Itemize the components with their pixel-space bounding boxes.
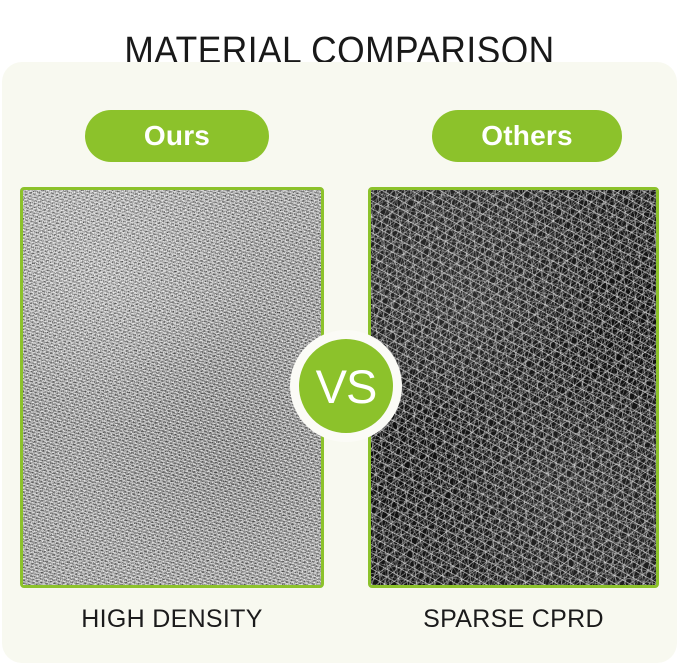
pill-others: Others [432,110,622,162]
material-swatch-others [368,187,659,588]
versus-label: VS [316,359,377,414]
caption-ours-label: HIGH DENSITY [81,605,262,634]
caption-others-label: SPARSE CPRD [423,605,604,634]
comparison-card: Ours Others VS HIGH DENSITY SPARSE CPRD [2,62,677,663]
caption-others: SPARSE CPRD [368,599,659,639]
material-swatch-ours [20,187,324,588]
dense-grey-felt-texture [23,190,321,585]
pill-others-label: Others [481,120,572,152]
caption-ours: HIGH DENSITY [20,599,324,639]
versus-badge: VS [290,330,402,442]
pill-ours: Ours [85,110,269,162]
pill-ours-label: Ours [144,120,210,152]
sparse-dark-fiber-texture [371,190,656,585]
